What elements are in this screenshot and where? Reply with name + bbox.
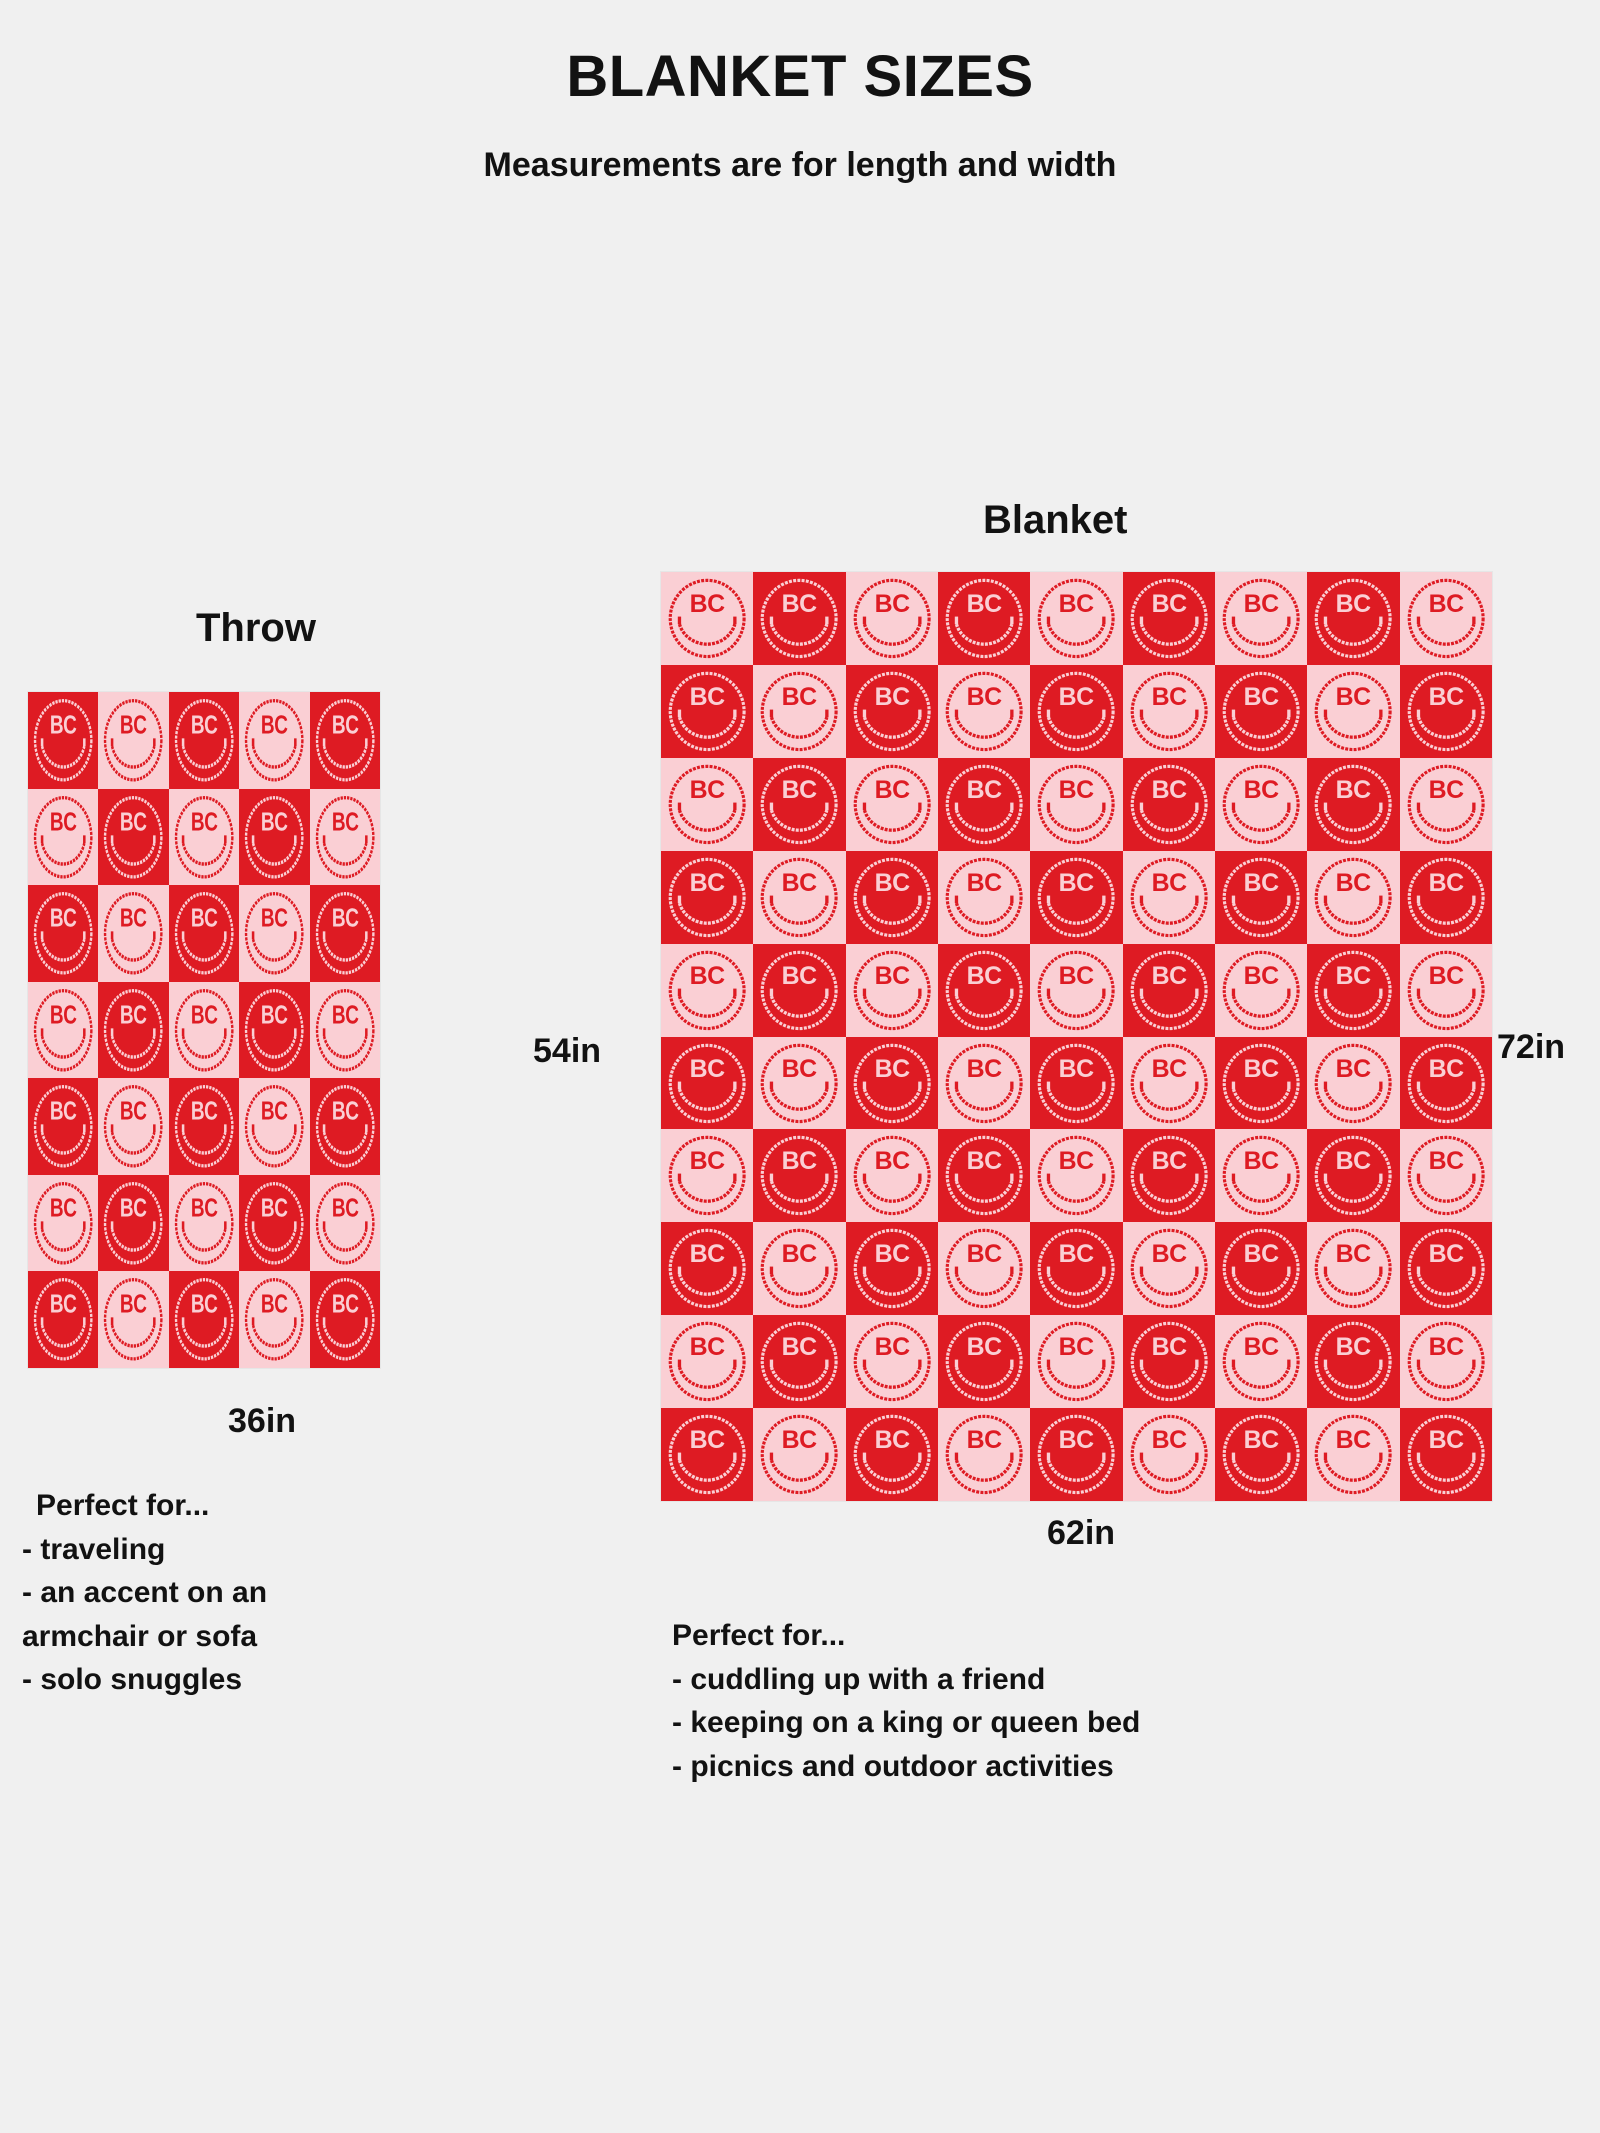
svg-text:BC: BC [1336,869,1371,897]
svg-text:BC: BC [782,869,817,897]
blanket-pattern-cell: BC [1030,758,1122,851]
blanket-pattern-cell: BC [661,1129,753,1222]
blanket-pattern-cell: BC [28,1078,98,1175]
svg-text:BC: BC [261,806,288,836]
blanket-pattern-cell: BC [938,944,1030,1037]
svg-text:BC: BC [1059,1147,1094,1175]
svg-text:BC: BC [1151,1147,1186,1175]
svg-text:BC: BC [1244,1333,1279,1361]
blanket-pattern-cell: BC [169,692,239,789]
blanket-pattern-cell: BC [310,982,380,1079]
blanket-pattern-cell: BC [28,982,98,1079]
blanket-perfect-for-title: Perfect for... [672,1617,1372,1655]
blanket-pattern-cell: BC [846,758,938,851]
blanket-pattern-cell: BC [239,692,309,789]
svg-text:BC: BC [50,710,77,740]
svg-text:BC: BC [331,710,358,740]
blanket-pattern-cell: BC [1307,1408,1399,1501]
svg-text:BC: BC [1059,1333,1094,1361]
blanket-pattern-cell: BC [1123,1315,1215,1408]
blanket-pattern-cell: BC [98,1175,168,1272]
blanket-pattern-cell: BC [1030,1315,1122,1408]
svg-text:BC: BC [690,590,725,618]
blanket-pattern-cell: BC [1400,1037,1492,1130]
blanket-pattern-cell: BC [1215,944,1307,1037]
svg-text:BC: BC [1151,869,1186,897]
svg-text:BC: BC [50,1289,77,1319]
blanket-height-dimension: 72in [1497,1030,1565,1064]
blanket-perfect-for-list: Perfect for... - cuddling up with a frie… [672,1617,1372,1791]
svg-text:BC: BC [1059,961,1094,989]
blanket-pattern-cell: BC [310,1271,380,1368]
throw-width-dimension: 36in [228,1404,296,1438]
blanket-swatch: BCBCBCBCBCBCBCBCBCBCBCBCBCBCBCBCBCBCBCBC… [661,572,1492,1501]
blanket-pattern-cell: BC [1400,944,1492,1037]
blanket-pattern-cell: BC [753,758,845,851]
svg-text:BC: BC [967,1147,1002,1175]
blanket-pattern-cell: BC [1400,1222,1492,1315]
blanket-pattern-cell: BC [310,692,380,789]
blanket-pattern-cell: BC [1307,1129,1399,1222]
blanket-pattern-cell: BC [661,1315,753,1408]
blanket-pattern-cell: BC [239,1271,309,1368]
blanket-pattern-cell: BC [28,1271,98,1368]
svg-text:BC: BC [967,1426,1002,1454]
svg-text:BC: BC [261,1096,288,1126]
svg-text:BC: BC [690,1426,725,1454]
blanket-pattern-cell: BC [938,1037,1030,1130]
blanket-pattern-cell: BC [1307,572,1399,665]
blanket-pattern-cell: BC [661,1222,753,1315]
svg-text:BC: BC [331,1289,358,1319]
svg-text:BC: BC [261,1289,288,1319]
svg-text:BC: BC [1059,1054,1094,1082]
svg-text:BC: BC [1059,683,1094,711]
svg-text:BC: BC [261,999,288,1029]
svg-text:BC: BC [874,961,909,989]
perfect-for-item: - an accent on an [22,1574,442,1612]
svg-text:BC: BC [874,683,909,711]
svg-text:BC: BC [690,1333,725,1361]
blanket-pattern-cell: BC [1307,944,1399,1037]
svg-text:BC: BC [690,683,725,711]
throw-section-label: Throw [196,608,316,648]
blanket-pattern-cell: BC [938,572,1030,665]
blanket-pattern-cell: BC [661,1037,753,1130]
blanket-pattern-cell: BC [1400,1408,1492,1501]
blanket-pattern-cell: BC [28,692,98,789]
svg-text:BC: BC [1336,961,1371,989]
blanket-pattern-cell: BC [310,789,380,886]
svg-text:BC: BC [1428,1240,1463,1268]
svg-text:BC: BC [50,1192,77,1222]
blanket-pattern-cell: BC [846,944,938,1037]
perfect-for-item: - cuddling up with a friend [672,1661,1372,1699]
blanket-pattern-cell: BC [1215,1037,1307,1130]
svg-text:BC: BC [1059,1426,1094,1454]
svg-text:BC: BC [331,806,358,836]
svg-text:BC: BC [1059,869,1094,897]
svg-text:BC: BC [967,683,1002,711]
perfect-for-item: - solo snuggles [22,1661,442,1699]
svg-text:BC: BC [782,590,817,618]
svg-text:BC: BC [782,1333,817,1361]
blanket-pattern-cell: BC [1123,1129,1215,1222]
throw-perfect-for-list: Perfect for... - traveling- an accent on… [22,1487,442,1705]
perfect-for-item: - keeping on a king or queen bed [672,1704,1372,1742]
svg-text:BC: BC [967,1333,1002,1361]
svg-text:BC: BC [1059,590,1094,618]
svg-text:BC: BC [1151,590,1186,618]
blanket-pattern-cell: BC [310,885,380,982]
blanket-pattern-cell: BC [938,851,1030,944]
blanket-pattern-cell: BC [169,789,239,886]
blanket-pattern-cell: BC [753,665,845,758]
blanket-pattern-cell: BC [846,1408,938,1501]
svg-text:BC: BC [1244,683,1279,711]
blanket-pattern-cell: BC [1400,851,1492,944]
svg-text:BC: BC [120,1192,147,1222]
svg-text:BC: BC [1336,1333,1371,1361]
blanket-pattern-cell: BC [169,1175,239,1272]
svg-text:BC: BC [1151,776,1186,804]
svg-text:BC: BC [191,710,218,740]
svg-text:BC: BC [120,999,147,1029]
svg-text:BC: BC [782,1426,817,1454]
blanket-pattern-cell: BC [1307,851,1399,944]
svg-text:BC: BC [261,710,288,740]
blanket-pattern-cell: BC [846,572,938,665]
blanket-pattern-cell: BC [169,885,239,982]
svg-text:BC: BC [1336,1147,1371,1175]
svg-text:BC: BC [1428,1054,1463,1082]
blanket-pattern-cell: BC [661,1408,753,1501]
svg-text:BC: BC [874,1333,909,1361]
blanket-pattern-cell: BC [753,944,845,1037]
throw-blanket-swatch: BCBCBCBCBCBCBCBCBCBCBCBCBCBCBCBCBCBCBCBC… [28,692,380,1368]
svg-text:BC: BC [1428,1147,1463,1175]
blanket-pattern-cell: BC [753,572,845,665]
blanket-pattern-cell: BC [1030,851,1122,944]
blanket-pattern-cell: BC [1400,1129,1492,1222]
blanket-pattern-cell: BC [846,1315,938,1408]
blanket-pattern-cell: BC [661,572,753,665]
blanket-pattern-cell: BC [310,1078,380,1175]
blanket-pattern-cell: BC [1307,758,1399,851]
blanket-pattern-cell: BC [1215,1408,1307,1501]
svg-text:BC: BC [120,1096,147,1126]
blanket-pattern-cell: BC [1030,1408,1122,1501]
svg-text:BC: BC [1244,869,1279,897]
svg-text:BC: BC [1151,1426,1186,1454]
blanket-pattern-cell: BC [1215,758,1307,851]
svg-text:BC: BC [191,999,218,1029]
svg-text:BC: BC [967,869,1002,897]
blanket-pattern-cell: BC [1400,572,1492,665]
blanket-pattern-cell: BC [1123,572,1215,665]
svg-text:BC: BC [1244,1240,1279,1268]
blanket-pattern-cell: BC [1400,665,1492,758]
blanket-pattern-cell: BC [753,1408,845,1501]
blanket-pattern-cell: BC [239,1078,309,1175]
svg-text:BC: BC [1244,1054,1279,1082]
svg-text:BC: BC [1244,776,1279,804]
blanket-pattern-cell: BC [846,851,938,944]
blanket-pattern-cell: BC [98,1271,168,1368]
svg-text:BC: BC [690,1240,725,1268]
blanket-pattern-cell: BC [98,692,168,789]
svg-text:BC: BC [120,903,147,933]
svg-text:BC: BC [191,1192,218,1222]
svg-text:BC: BC [782,1054,817,1082]
svg-text:BC: BC [782,776,817,804]
blanket-pattern-cell: BC [28,885,98,982]
svg-text:BC: BC [331,1096,358,1126]
perfect-for-item: - traveling [22,1531,442,1569]
svg-text:BC: BC [874,1054,909,1082]
svg-text:BC: BC [331,999,358,1029]
blanket-pattern-cell: BC [98,885,168,982]
blanket-pattern-cell: BC [1123,758,1215,851]
blanket-pattern-cell: BC [1030,1129,1122,1222]
svg-text:BC: BC [1428,1333,1463,1361]
svg-text:BC: BC [1428,869,1463,897]
svg-text:BC: BC [1428,961,1463,989]
blanket-pattern-cell: BC [846,665,938,758]
svg-text:BC: BC [1336,776,1371,804]
blanket-pattern-cell: BC [169,1271,239,1368]
blanket-pattern-cell: BC [310,1175,380,1272]
svg-text:BC: BC [782,1147,817,1175]
blanket-pattern-cell: BC [1215,1129,1307,1222]
svg-text:BC: BC [1059,1240,1094,1268]
blanket-pattern-cell: BC [1400,758,1492,851]
svg-text:BC: BC [874,1240,909,1268]
blanket-pattern-cell: BC [239,982,309,1079]
svg-text:BC: BC [50,806,77,836]
perfect-for-item: armchair or sofa [22,1618,442,1656]
svg-text:BC: BC [1244,1147,1279,1175]
blanket-pattern-cell: BC [938,1222,1030,1315]
svg-text:BC: BC [782,961,817,989]
blanket-section-label: Blanket [983,500,1128,540]
blanket-pattern-cell: BC [753,1315,845,1408]
svg-text:BC: BC [261,1192,288,1222]
blanket-pattern-cell: BC [239,885,309,982]
svg-text:BC: BC [690,1147,725,1175]
svg-text:BC: BC [967,1240,1002,1268]
blanket-pattern-cell: BC [1030,665,1122,758]
svg-text:BC: BC [261,903,288,933]
svg-text:BC: BC [1336,1426,1371,1454]
blanket-pattern-cell: BC [1215,1315,1307,1408]
svg-text:BC: BC [191,806,218,836]
blanket-pattern-cell: BC [753,851,845,944]
blanket-pattern-cell: BC [98,1078,168,1175]
perfect-for-item: - picnics and outdoor activities [672,1748,1372,1786]
svg-text:BC: BC [1244,961,1279,989]
svg-text:BC: BC [120,710,147,740]
blanket-pattern-cell: BC [1123,944,1215,1037]
blanket-pattern-cell: BC [1123,665,1215,758]
blanket-pattern-cell: BC [938,758,1030,851]
blanket-pattern-cell: BC [1030,1037,1122,1130]
blanket-pattern-cell: BC [239,1175,309,1272]
blanket-pattern-cell: BC [1307,1222,1399,1315]
blanket-pattern-cell: BC [1215,572,1307,665]
blanket-pattern-cell: BC [938,1129,1030,1222]
svg-text:BC: BC [1059,776,1094,804]
svg-text:BC: BC [1336,1240,1371,1268]
svg-text:BC: BC [967,590,1002,618]
svg-text:BC: BC [1244,590,1279,618]
svg-text:BC: BC [331,1192,358,1222]
blanket-pattern-cell: BC [661,665,753,758]
svg-text:BC: BC [690,776,725,804]
svg-text:BC: BC [874,1147,909,1175]
svg-text:BC: BC [50,1096,77,1126]
blanket-pattern-cell: BC [846,1037,938,1130]
svg-text:BC: BC [782,683,817,711]
svg-text:BC: BC [690,1054,725,1082]
blanket-pattern-cell: BC [753,1222,845,1315]
blanket-pattern-cell: BC [1123,851,1215,944]
svg-text:BC: BC [1151,683,1186,711]
svg-text:BC: BC [191,1096,218,1126]
throw-height-dimension: 54in [533,1034,601,1068]
blanket-pattern-cell: BC [28,1175,98,1272]
blanket-pattern-cell: BC [1123,1222,1215,1315]
svg-text:BC: BC [1151,1054,1186,1082]
blanket-pattern-cell: BC [1123,1037,1215,1130]
blanket-pattern-cell: BC [661,851,753,944]
svg-text:BC: BC [1428,683,1463,711]
svg-text:BC: BC [1336,590,1371,618]
svg-text:BC: BC [690,869,725,897]
svg-text:BC: BC [874,590,909,618]
svg-text:BC: BC [1428,590,1463,618]
blanket-pattern-cell: BC [661,944,753,1037]
blanket-pattern-cell: BC [1030,572,1122,665]
blanket-pattern-cell: BC [169,982,239,1079]
blanket-pattern-cell: BC [1307,1037,1399,1130]
blanket-pattern-cell: BC [1215,665,1307,758]
svg-text:BC: BC [967,961,1002,989]
svg-text:BC: BC [50,903,77,933]
svg-text:BC: BC [1151,1333,1186,1361]
blanket-pattern-cell: BC [169,1078,239,1175]
svg-text:BC: BC [1151,1240,1186,1268]
blanket-pattern-cell: BC [1215,1222,1307,1315]
svg-text:BC: BC [331,903,358,933]
svg-text:BC: BC [50,999,77,1029]
blanket-pattern-cell: BC [1307,1315,1399,1408]
blanket-pattern-cell: BC [753,1129,845,1222]
svg-text:BC: BC [1244,1426,1279,1454]
blanket-pattern-cell: BC [938,1315,1030,1408]
blanket-pattern-cell: BC [846,1222,938,1315]
svg-text:BC: BC [191,903,218,933]
blanket-pattern-cell: BC [1030,944,1122,1037]
blanket-pattern-cell: BC [239,789,309,886]
svg-text:BC: BC [782,1240,817,1268]
svg-text:BC: BC [690,961,725,989]
throw-perfect-for-title: Perfect for... [22,1487,442,1525]
blanket-pattern-cell: BC [98,982,168,1079]
svg-text:BC: BC [1428,1426,1463,1454]
page-title: BLANKET SIZES [0,48,1600,106]
svg-text:BC: BC [967,776,1002,804]
blanket-pattern-cell: BC [98,789,168,886]
svg-text:BC: BC [191,1289,218,1319]
svg-text:BC: BC [874,869,909,897]
blanket-pattern-cell: BC [1030,1222,1122,1315]
blanket-width-dimension: 62in [1047,1516,1115,1550]
blanket-pattern-cell: BC [1215,851,1307,944]
blanket-pattern-cell: BC [753,1037,845,1130]
blanket-pattern-cell: BC [661,758,753,851]
svg-text:BC: BC [1336,683,1371,711]
blanket-pattern-cell: BC [846,1129,938,1222]
blanket-pattern-cell: BC [28,789,98,886]
svg-text:BC: BC [120,806,147,836]
svg-text:BC: BC [120,1289,147,1319]
blanket-pattern-cell: BC [1307,665,1399,758]
svg-text:BC: BC [1336,1054,1371,1082]
svg-text:BC: BC [1151,961,1186,989]
svg-text:BC: BC [967,1054,1002,1082]
blanket-pattern-cell: BC [1400,1315,1492,1408]
page-subtitle: Measurements are for length and width [0,148,1600,182]
blanket-pattern-cell: BC [938,1408,1030,1501]
blanket-pattern-cell: BC [1123,1408,1215,1501]
svg-text:BC: BC [1428,776,1463,804]
blanket-pattern-cell: BC [938,665,1030,758]
svg-text:BC: BC [874,776,909,804]
svg-text:BC: BC [874,1426,909,1454]
